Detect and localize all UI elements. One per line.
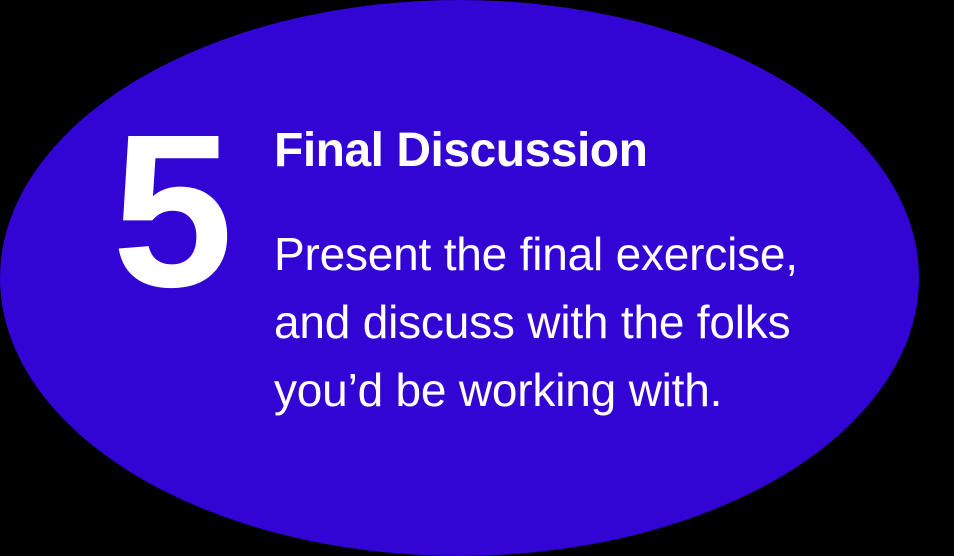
slide-canvas: 5 Final Discussion Present the final exe… xyxy=(0,0,954,556)
card-title: Final Discussion xyxy=(274,122,874,180)
body-line: and discuss with the folks xyxy=(274,288,874,356)
step-number: 5 xyxy=(112,103,262,321)
text-column: Final Discussion Present the final exerc… xyxy=(274,122,874,424)
card-content: 5 Final Discussion Present the final exe… xyxy=(0,0,919,556)
body-line: you’d be working with. xyxy=(274,356,874,424)
body-line: Present the final exercise, xyxy=(274,220,874,288)
card-body: Present the final exercise, and discuss … xyxy=(274,220,874,424)
